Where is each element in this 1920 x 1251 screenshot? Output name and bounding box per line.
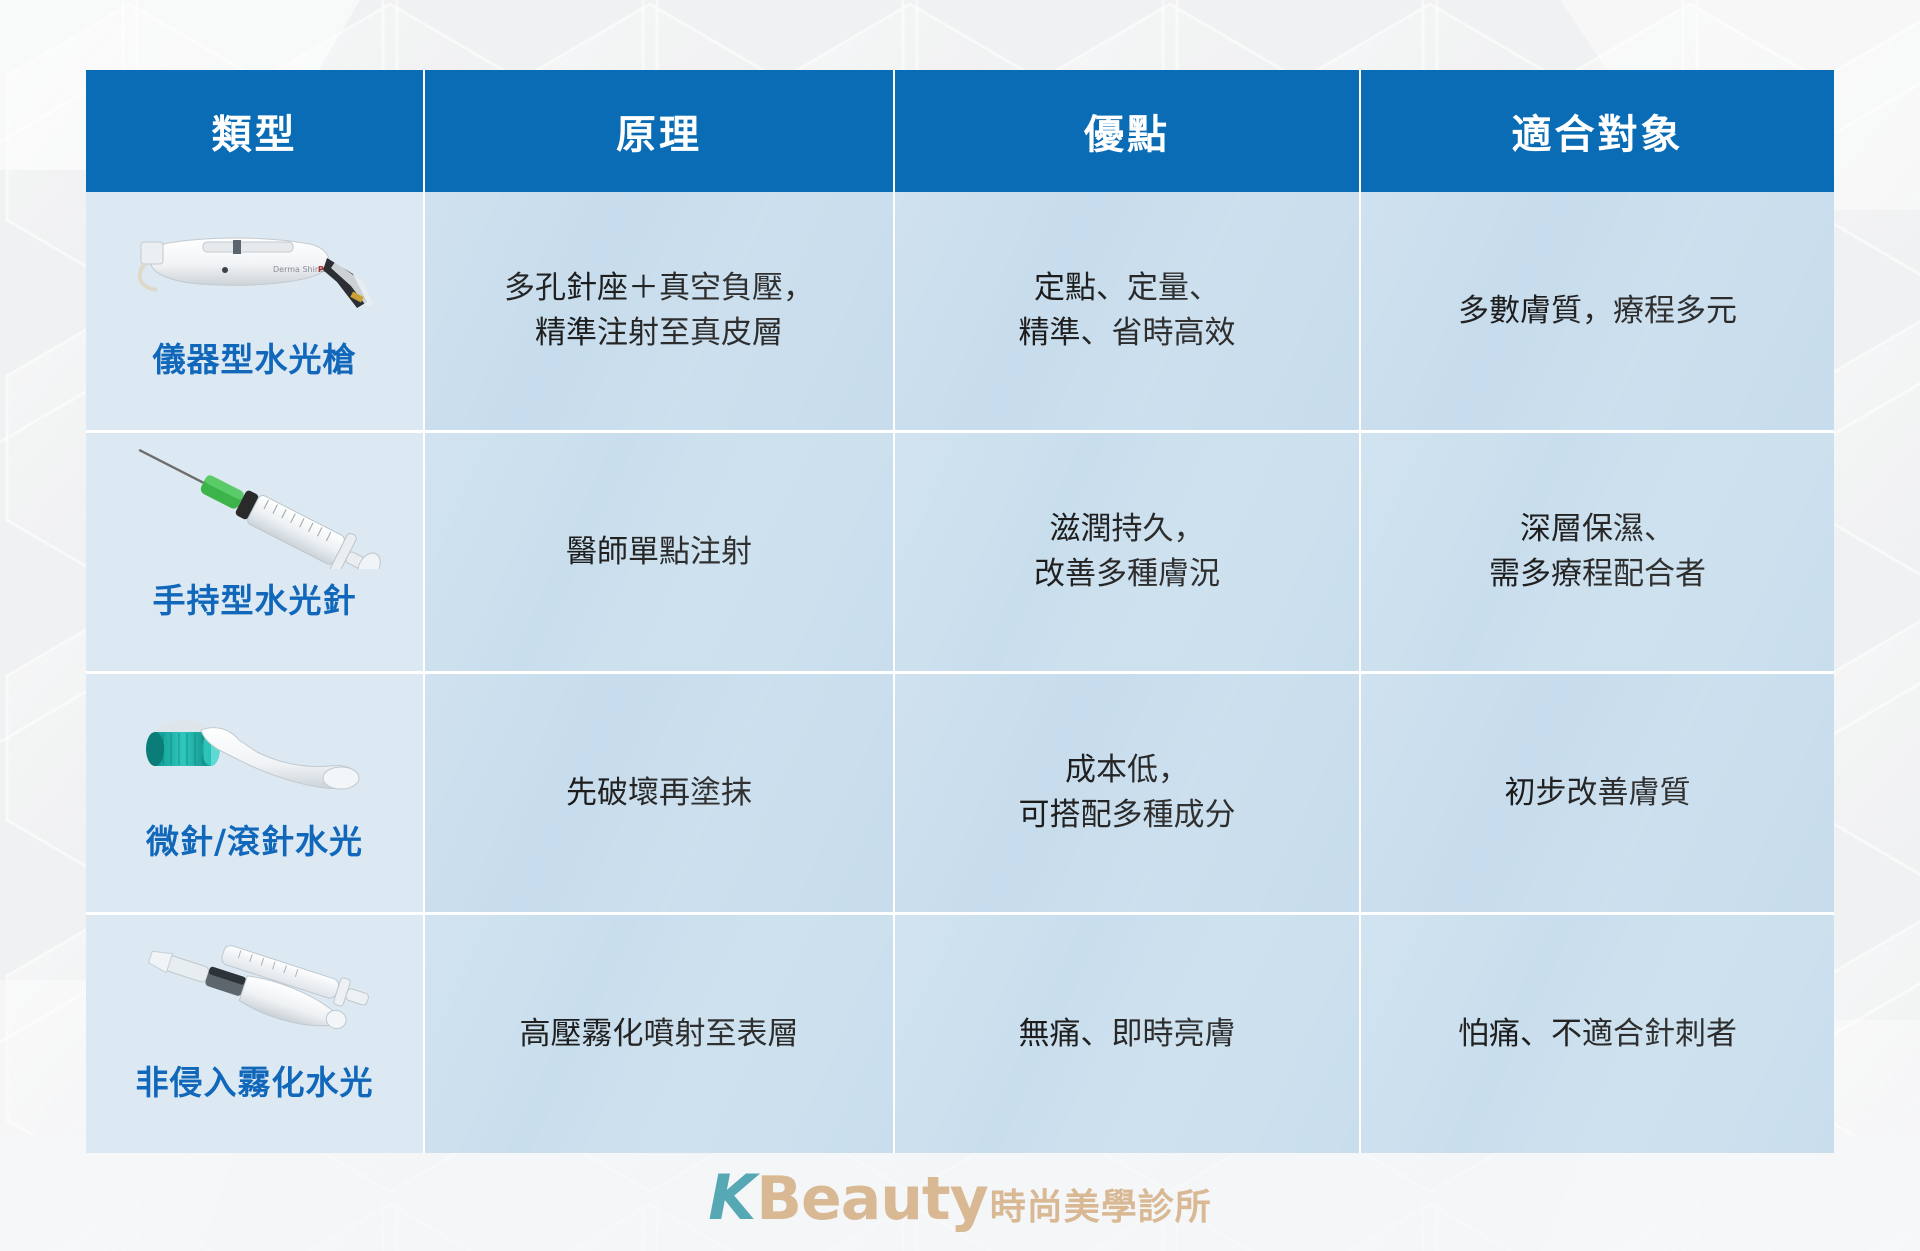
logo-wordmark: Beauty	[756, 1169, 987, 1229]
type-label: 微針/滾針水光	[146, 818, 363, 866]
syringe-image	[105, 447, 405, 571]
principle-text: 高壓霧化噴射至表層	[520, 1016, 799, 1052]
advantages-cell: 成本低， 可搭配多種成分	[895, 674, 1361, 915]
logo-initial: K	[708, 1167, 756, 1229]
table-header: 類型 原理 優點 適合對象	[86, 70, 1834, 192]
table-row: Derma Shine PRO 儀器型水光槍 多孔針座＋真空負壓， 精準注射至真…	[86, 192, 1834, 433]
water-light-gun-device-image: Derma Shine PRO	[105, 206, 405, 330]
type-label: 非侵入霧化水光	[136, 1059, 374, 1107]
column-header-type: 類型	[86, 70, 425, 192]
table-row: 微針/滾針水光 先破壞再塗抹 成本低， 可搭配多種成分 初步改善膚質	[86, 674, 1834, 915]
principle-text: 多孔針座＋真空負壓， 精準注射至真皮層	[504, 270, 814, 351]
nebulizer-handpiece-icon	[105, 931, 405, 1051]
principle-cell: 多孔針座＋真空負壓， 精準注射至真皮層	[425, 192, 895, 433]
derma-roller-icon	[105, 690, 405, 810]
principle-cell: 高壓霧化噴射至表層	[425, 915, 895, 1153]
suitable-text: 初步改善膚質	[1505, 775, 1691, 811]
water-light-gun-icon: Derma Shine PRO	[105, 208, 405, 328]
table-row: 非侵入霧化水光 高壓霧化噴射至表層 無痛、即時亮膚 怕痛、不適合針刺者	[86, 915, 1834, 1153]
comparison-table-container: 類型 原理 優點 適合對象	[86, 70, 1834, 1153]
type-cell: 非侵入霧化水光	[86, 915, 425, 1153]
type-label: 儀器型水光槍	[153, 336, 357, 384]
type-cell: 微針/滾針水光	[86, 674, 425, 915]
type-cell: Derma Shine PRO 儀器型水光槍	[86, 192, 425, 433]
table-row: 手持型水光針 醫師單點注射 滋潤持久， 改善多種膚況 深層保濕、 需多療程配合者	[86, 433, 1834, 674]
column-header-principle: 原理	[425, 70, 895, 192]
table-body: Derma Shine PRO 儀器型水光槍 多孔針座＋真空負壓， 精準注射至真…	[86, 192, 1834, 1153]
table-header-row: 類型 原理 優點 適合對象	[86, 70, 1834, 192]
advantages-cell: 定點、定量、 精準、省時高效	[895, 192, 1361, 433]
type-label: 手持型水光針	[153, 577, 357, 625]
clinic-logo: K Beauty 時尚美學診所	[0, 1167, 1920, 1229]
suitable-cell: 初步改善膚質	[1361, 674, 1834, 915]
principle-text: 醫師單點注射	[566, 534, 752, 570]
principle-cell: 先破壞再塗抹	[425, 674, 895, 915]
logo-chinese-name: 時尚美學診所	[990, 1190, 1212, 1226]
column-header-suitable-for: 適合對象	[1361, 70, 1834, 192]
principle-text: 先破壞再塗抹	[566, 775, 752, 811]
advantages-cell: 無痛、即時亮膚	[895, 915, 1361, 1153]
suitable-cell: 怕痛、不適合針刺者	[1361, 915, 1834, 1153]
advantages-text: 滋潤持久， 改善多種膚況	[1034, 511, 1220, 592]
advantages-cell: 滋潤持久， 改善多種膚況	[895, 433, 1361, 674]
suitable-cell: 深層保濕、 需多療程配合者	[1361, 433, 1834, 674]
type-cell: 手持型水光針	[86, 433, 425, 674]
nebulizer-handpiece-image	[105, 929, 405, 1053]
suitable-text: 深層保濕、 需多療程配合者	[1489, 511, 1706, 592]
advantages-text: 成本低， 可搭配多種成分	[1019, 752, 1236, 833]
derma-roller-image	[105, 688, 405, 812]
suitable-text: 多數膚質，療程多元	[1458, 293, 1737, 329]
principle-cell: 醫師單點注射	[425, 433, 895, 674]
suitable-cell: 多數膚質，療程多元	[1361, 192, 1834, 433]
advantages-text: 定點、定量、 精準、省時高效	[1019, 270, 1236, 351]
advantages-text: 無痛、即時亮膚	[1019, 1016, 1236, 1052]
suitable-text: 怕痛、不適合針刺者	[1458, 1016, 1737, 1052]
water-light-comparison-table: 類型 原理 優點 適合對象	[86, 70, 1834, 1153]
column-header-advantages: 優點	[895, 70, 1361, 192]
syringe-icon	[105, 449, 405, 569]
